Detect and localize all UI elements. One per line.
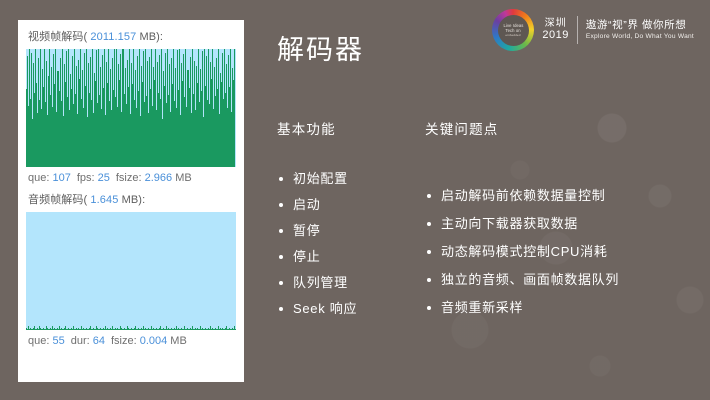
- list-item: 动态解码模式控制CPU消耗: [425, 238, 697, 266]
- video-panel-title: 视频帧解码( 2011.157 MB):: [28, 30, 236, 45]
- audio-fsize-unit: MB: [167, 335, 187, 347]
- video-fps-value: 25: [98, 172, 110, 184]
- list-item: 独立的音频、画面帧数据队列: [425, 266, 697, 294]
- video-que-value: 107: [52, 172, 70, 184]
- list-item: 音频重新采样: [425, 294, 697, 322]
- brand-city-name: 深圳: [545, 18, 567, 30]
- key-issues-heading: 关键问题点: [425, 118, 697, 138]
- audio-panel-title-suffix: MB):: [118, 194, 145, 206]
- video-que-label: que:: [28, 172, 52, 184]
- audio-panel-title-prefix: 音频帧解码(: [28, 194, 90, 206]
- brand-city-block: 深圳 2019: [542, 18, 568, 42]
- audio-panel-title: 音频帧解码( 1.645 MB):: [28, 193, 236, 208]
- list-item: 启动: [277, 192, 412, 218]
- audio-fsize-value: 0.004: [140, 335, 168, 347]
- key-issues-list: 启动解码前依赖数据量控制 主动向下载器获取数据 动态解码模式控制CPU消耗 独立…: [425, 182, 697, 322]
- basic-features-heading: 基本功能: [277, 118, 412, 138]
- video-fsize-value: 2.966: [145, 172, 173, 184]
- list-item: 队列管理: [277, 270, 412, 296]
- audio-dur-label: dur:: [71, 335, 93, 347]
- list-item: 启动解码前依赖数据量控制: [425, 182, 697, 210]
- video-fsize-label: fsize:: [116, 172, 145, 184]
- brand-tagline-en: Explore World, Do What You Want: [586, 32, 694, 42]
- audio-bar-series: [26, 212, 236, 330]
- video-fsize-unit: MB: [172, 172, 192, 184]
- video-frame-chart: [26, 49, 236, 167]
- slide-root: 视频帧解码( 2011.157 MB): que: 107fps: 25fsiz…: [0, 0, 710, 400]
- conference-logo-inner: Live Ideas Tech on embedded: [498, 15, 529, 46]
- audio-frame-chart: [26, 212, 236, 330]
- basic-features-list: 初始配置 启动 暂停 停止 队列管理 Seek 响应: [277, 166, 412, 322]
- audio-panel-title-value: 1.645: [90, 194, 118, 206]
- brand-tagline-block: 遨游“视”界 做你所想 Explore World, Do What You W…: [586, 18, 694, 42]
- audio-dur-value: 64: [93, 335, 105, 347]
- list-item: Seek 响应: [277, 296, 412, 322]
- brand-year: 2019: [542, 29, 568, 42]
- audio-stats-line: que: 55dur: 64fsize: 0.004 MB: [28, 333, 236, 349]
- audio-que-label: que:: [28, 335, 52, 347]
- video-panel-title-value: 2011.157: [90, 31, 136, 43]
- brand-divider: [577, 16, 578, 44]
- decoder-monitor-card: 视频帧解码( 2011.157 MB): que: 107fps: 25fsiz…: [18, 20, 244, 382]
- conference-logo-icon: Live Ideas Tech on embedded: [492, 9, 534, 51]
- video-stats-line: que: 107fps: 25fsize: 2.966 MB: [28, 170, 236, 186]
- video-panel-title-prefix: 视频帧解码(: [28, 31, 90, 43]
- list-item: 暂停: [277, 218, 412, 244]
- conference-brand-lockup: Live Ideas Tech on embedded 深圳 2019 遨游“视…: [492, 9, 694, 51]
- video-panel-title-suffix: MB):: [136, 31, 163, 43]
- key-issues-column: 关键问题点 启动解码前依赖数据量控制 主动向下载器获取数据 动态解码模式控制CP…: [425, 118, 697, 322]
- audio-fsize-label: fsize:: [111, 335, 140, 347]
- basic-features-column: 基本功能 初始配置 启动 暂停 停止 队列管理 Seek 响应: [277, 118, 412, 322]
- logo-line-3: embedded: [506, 33, 521, 37]
- video-bar-series: [26, 49, 236, 167]
- video-fps-label: fps:: [77, 172, 98, 184]
- list-item: 主动向下载器获取数据: [425, 210, 697, 238]
- list-item: 初始配置: [277, 166, 412, 192]
- list-item: 停止: [277, 244, 412, 270]
- page-title: 解码器: [277, 28, 364, 67]
- audio-que-value: 55: [52, 335, 64, 347]
- brand-tagline-cn: 遨游“视”界 做你所想: [586, 18, 694, 32]
